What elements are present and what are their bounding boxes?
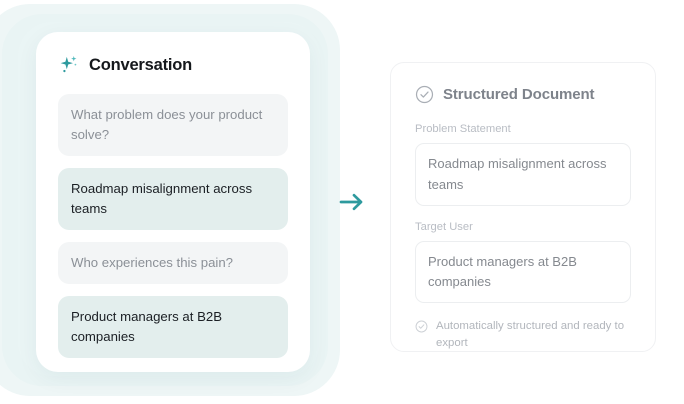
footnote-text: Automatically structured and ready to ex… [436,318,631,351]
message-bubble-answer: Roadmap misalignment across teams [58,168,288,230]
message-bubble-answer: Product managers at B2B companies [58,296,288,358]
structured-document-panel: Structured Document Problem Statement Ro… [390,62,656,352]
field-label: Problem Statement [415,123,631,136]
conversation-card: Conversation What problem does your prod… [36,32,310,372]
message-bubble-question: Who experiences this pain? [58,242,288,284]
field-value: Product managers at B2B companies [415,241,631,303]
illustration-stage: Conversation What problem does your prod… [0,0,684,404]
document-header: Structured Document [415,85,631,104]
conversation-title: Conversation [89,57,192,74]
document-field: Problem Statement Roadmap misalignment a… [415,123,631,206]
conversation-header: Conversation [58,54,288,76]
document-title: Structured Document [443,87,594,102]
field-value: Roadmap misalignment across teams [415,143,631,205]
message-list: What problem does your product solve? Ro… [58,94,288,358]
message-bubble-question: What problem does your product solve? [58,94,288,156]
check-circle-icon [415,85,434,104]
document-field: Target User Product managers at B2B comp… [415,221,631,304]
sparkle-icon [58,54,80,76]
field-label: Target User [415,221,631,234]
check-circle-icon [415,318,428,333]
document-footnote: Automatically structured and ready to ex… [415,318,631,351]
